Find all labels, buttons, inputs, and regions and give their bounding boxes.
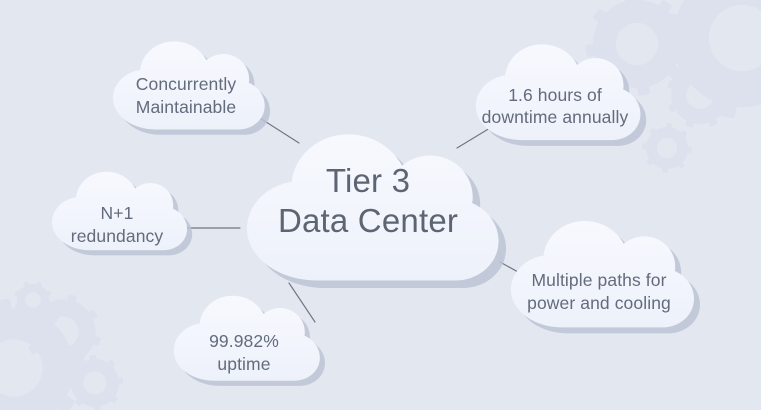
cloud-shape-concurrently-maintainable bbox=[104, 28, 268, 135]
cloud-shape-center bbox=[232, 112, 504, 290]
cloud-shape-uptime bbox=[165, 283, 323, 386]
cloud-node-multiple-paths[interactable]: Multiple paths for power and cooling bbox=[500, 205, 698, 334]
cloud-node-concurrently-maintainable[interactable]: Concurrently Maintainable bbox=[104, 28, 268, 135]
cloud-node-tier-3-data-center[interactable]: Tier 3 Data Center bbox=[232, 112, 504, 290]
cloud-node-uptime[interactable]: 99.982% uptime bbox=[165, 283, 323, 386]
cloud-node-n-plus-1-redundancy[interactable]: N+1 redundancy bbox=[44, 160, 190, 255]
diagram-canvas: Tier 3 Data Center Concurrently Maintain… bbox=[0, 0, 761, 410]
cloud-shape-multiple-paths bbox=[500, 205, 698, 334]
cloud-shape-downtime-annually bbox=[466, 30, 644, 146]
cloud-shape-n-plus-1-redundancy bbox=[44, 160, 190, 255]
cloud-node-downtime-annually[interactable]: 1.6 hours of downtime annually bbox=[466, 30, 644, 146]
